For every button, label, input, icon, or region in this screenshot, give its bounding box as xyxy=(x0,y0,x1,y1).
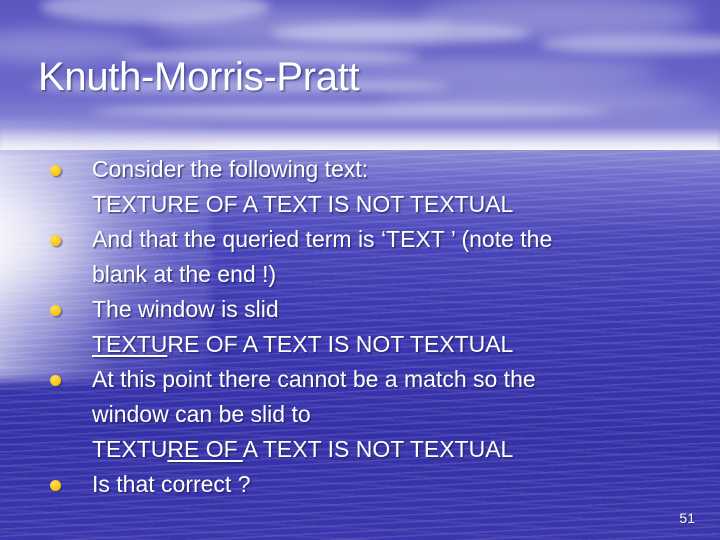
bullet-text: blank at the end !) xyxy=(92,261,276,287)
bullet-continuation-line: window can be slid to xyxy=(44,397,694,432)
bullet-text: Consider the following text: xyxy=(92,156,368,182)
bullet-dot-icon xyxy=(50,235,61,246)
bullet-primary-line: Consider the following text: xyxy=(44,152,694,187)
bullet-list: Consider the following text:TEXTURE OF A… xyxy=(44,152,694,502)
bullet-dot-icon xyxy=(50,305,61,316)
bullet-continuation-line: TEXTURE OF A TEXT IS NOT TEXTUAL xyxy=(44,432,694,467)
bullet-continuation-line: blank at the end !) xyxy=(44,257,694,292)
bullet-continuation-line: TEXTURE OF A TEXT IS NOT TEXTUAL xyxy=(44,327,694,362)
bullet-primary-line: Is that correct ? xyxy=(44,467,694,502)
bullet-text: Is that correct ? xyxy=(92,471,251,497)
bullet-text: TEXTURE OF A TEXT IS NOT TEXTUAL xyxy=(92,331,513,357)
bullet-text: And that the queried term is ‘TEXT ’ (no… xyxy=(92,226,552,252)
underlined-segment: RE OF xyxy=(167,436,242,462)
presentation-slide: Knuth-Morris-Pratt Consider the followin… xyxy=(0,0,720,540)
bullet-text: window can be slid to xyxy=(92,401,311,427)
slide-title: Knuth-Morris-Pratt xyxy=(38,55,359,100)
text-segment: A TEXT IS NOT TEXTUAL xyxy=(243,436,514,462)
bullet-text: The window is slid xyxy=(92,296,279,322)
page-number: 51 xyxy=(679,510,695,526)
bullet-primary-line: The window is slid xyxy=(44,292,694,327)
bullet-item: The window is slidTEXTURE OF A TEXT IS N… xyxy=(44,292,694,362)
bullet-dot-icon xyxy=(50,375,61,386)
text-segment: TEXTU xyxy=(92,436,167,462)
text-segment: RE OF A TEXT IS NOT TEXTUAL xyxy=(167,331,513,357)
bullet-text: TEXTURE OF A TEXT IS NOT TEXTUAL xyxy=(92,436,513,462)
bullet-primary-line: And that the queried term is ‘TEXT ’ (no… xyxy=(44,222,694,257)
bullet-primary-line: At this point there cannot be a match so… xyxy=(44,362,694,397)
bullet-item: Is that correct ? xyxy=(44,467,694,502)
bullet-dot-icon xyxy=(50,165,61,176)
underlined-segment: TEXTU xyxy=(92,331,167,357)
bullet-continuation-line: TEXTURE OF A TEXT IS NOT TEXTUAL xyxy=(44,187,694,222)
bullet-item: And that the queried term is ‘TEXT ’ (no… xyxy=(44,222,694,292)
bullet-dot-icon xyxy=(50,480,61,491)
bullet-text: TEXTURE OF A TEXT IS NOT TEXTUAL xyxy=(92,191,513,217)
bullet-item: Consider the following text:TEXTURE OF A… xyxy=(44,152,694,222)
bullet-item: At this point there cannot be a match so… xyxy=(44,362,694,467)
bullet-text: At this point there cannot be a match so… xyxy=(92,366,536,392)
